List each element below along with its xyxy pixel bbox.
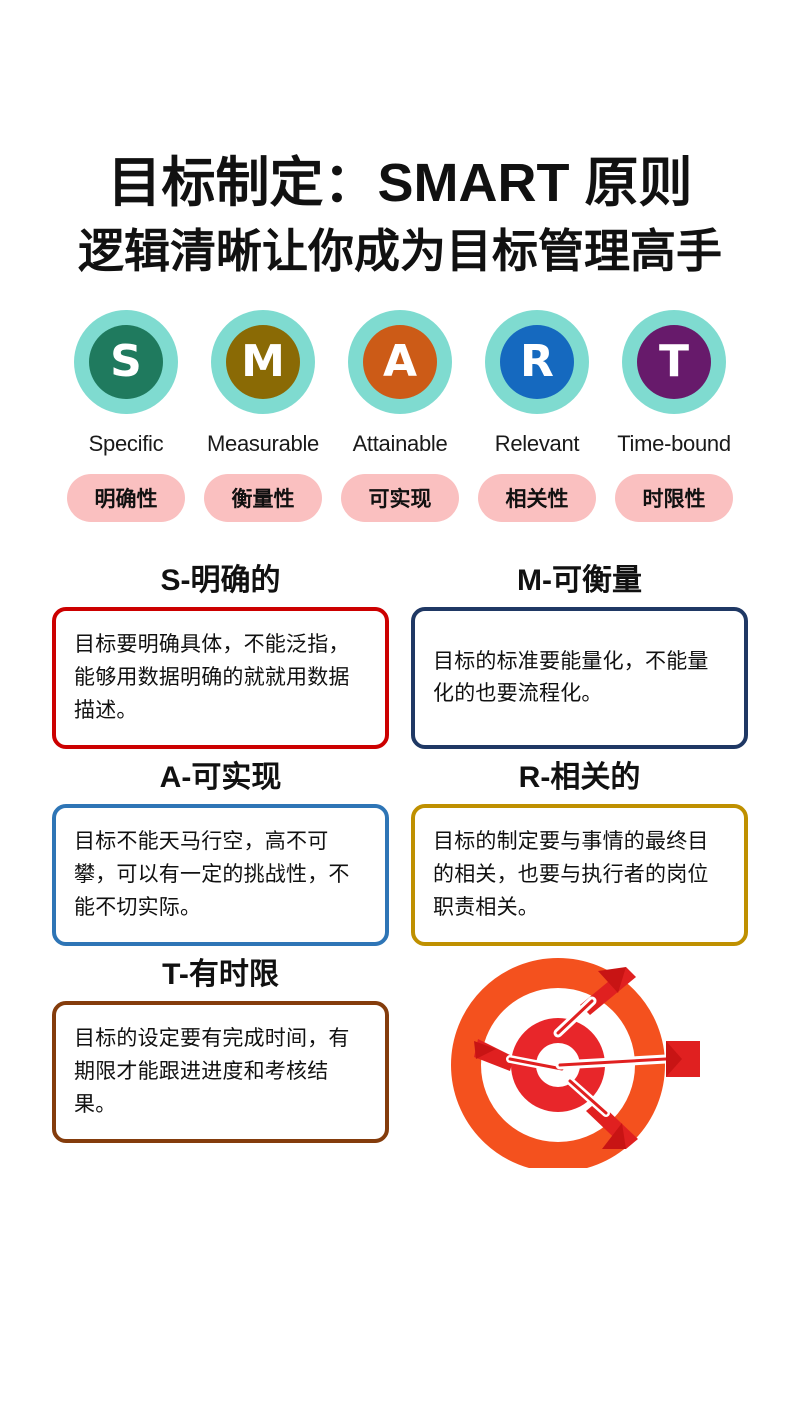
card-heading-s: S-明确的 (52, 564, 389, 597)
card-box-m: 目标的标准要能量化，不能量化的也要流程化。 (411, 607, 748, 749)
target-with-darts-icon (430, 953, 730, 1168)
page-subtitle: 逻辑清晰让你成为目标管理高手 (0, 226, 800, 277)
english-label-m: Measurable (207, 431, 319, 457)
definition-cards-grid: S-明确的 目标要明确具体，不能泛指，能够用数据明确的就就用数据描述。 M-可衡… (0, 556, 800, 1170)
card-s: S-明确的 目标要明确具体，不能泛指，能够用数据明确的就就用数据描述。 (52, 556, 389, 749)
card-t: T-有时限 目标的设定要有完成时间，有期限才能跟进进度和考核结果。 (52, 950, 389, 1170)
letter-ring-s: S (74, 310, 178, 414)
smart-item-m: M Measurable 衡量性 (195, 310, 332, 522)
card-heading-m: M-可衡量 (411, 564, 748, 597)
letter-circle-r: R (500, 325, 574, 399)
letter-glyph-a: A (383, 340, 417, 384)
infographic-page: 目标制定：SMART 原则 逻辑清晰让你成为目标管理高手 S Specific … (0, 0, 800, 1422)
card-box-s: 目标要明确具体，不能泛指，能够用数据明确的就就用数据描述。 (52, 607, 389, 749)
smart-item-t: T Time-bound 时限性 (606, 310, 743, 522)
card-r: R-相关的 目标的制定要与事情的最终目的相关，也要与执行者的岗位职责相关。 (411, 753, 748, 946)
card-a: A-可实现 目标不能天马行空，高不可攀，可以有一定的挑战性，不能不切实际。 (52, 753, 389, 946)
card-text-a: 目标不能天马行空，高不可攀，可以有一定的挑战性，不能不切实际。 (74, 826, 367, 924)
letter-glyph-m: M (241, 340, 285, 384)
letter-circle-a: A (363, 325, 437, 399)
pill-label-m: 衡量性 (204, 474, 322, 522)
smart-letters-row: S Specific 明确性 M Measurable 衡量性 A Attain… (0, 310, 800, 522)
card-text-r: 目标的制定要与事情的最终目的相关，也要与执行者的岗位职责相关。 (433, 826, 726, 924)
page-title: 目标制定：SMART 原则 (0, 155, 800, 212)
smart-item-a: A Attainable 可实现 (332, 310, 469, 522)
card-box-t: 目标的设定要有完成时间，有期限才能跟进进度和考核结果。 (52, 1001, 389, 1143)
pill-label-t: 时限性 (615, 474, 733, 522)
card-m: M-可衡量 目标的标准要能量化，不能量化的也要流程化。 (411, 556, 748, 749)
card-heading-a: A-可实现 (52, 761, 389, 794)
english-label-a: Attainable (353, 431, 448, 457)
target-illustration (411, 950, 748, 1170)
letter-glyph-r: R (520, 340, 554, 384)
letter-ring-a: A (348, 310, 452, 414)
pill-label-s: 明确性 (67, 474, 185, 522)
letter-glyph-t: T (659, 340, 689, 384)
letter-ring-t: T (622, 310, 726, 414)
letter-glyph-s: S (110, 340, 142, 384)
card-text-t: 目标的设定要有完成时间，有期限才能跟进进度和考核结果。 (74, 1023, 367, 1121)
smart-item-r: R Relevant 相关性 (469, 310, 606, 522)
letter-circle-t: T (637, 325, 711, 399)
letter-ring-m: M (211, 310, 315, 414)
english-label-r: Relevant (495, 431, 579, 457)
english-label-t: Time-bound (617, 431, 731, 457)
pill-label-r: 相关性 (478, 474, 596, 522)
card-box-r: 目标的制定要与事情的最终目的相关，也要与执行者的岗位职责相关。 (411, 804, 748, 946)
letter-ring-r: R (485, 310, 589, 414)
card-text-s: 目标要明确具体，不能泛指，能够用数据明确的就就用数据描述。 (74, 629, 367, 727)
letter-circle-s: S (89, 325, 163, 399)
card-heading-r: R-相关的 (411, 761, 748, 794)
card-heading-t: T-有时限 (52, 958, 389, 991)
letter-circle-m: M (226, 325, 300, 399)
card-text-m: 目标的标准要能量化，不能量化的也要流程化。 (433, 646, 726, 711)
pill-label-a: 可实现 (341, 474, 459, 522)
smart-item-s: S Specific 明确性 (58, 310, 195, 522)
header-block: 目标制定：SMART 原则 逻辑清晰让你成为目标管理高手 (0, 0, 800, 276)
card-box-a: 目标不能天马行空，高不可攀，可以有一定的挑战性，不能不切实际。 (52, 804, 389, 946)
english-label-s: Specific (89, 431, 164, 457)
